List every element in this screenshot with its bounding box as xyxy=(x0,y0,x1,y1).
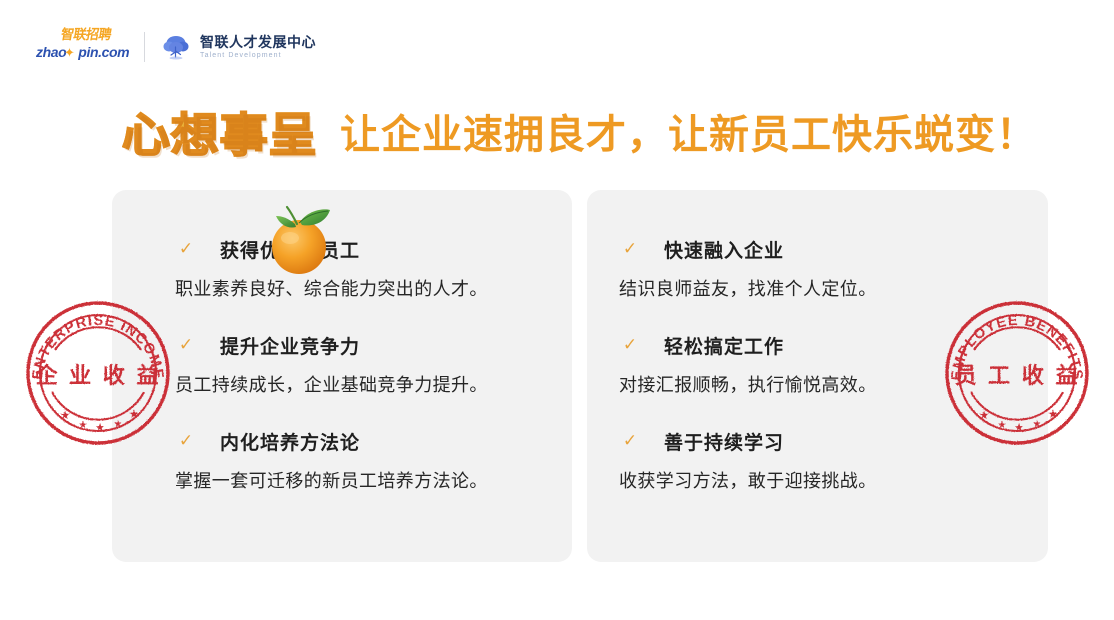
list-item-heading: ✓ 获得优质新员工 xyxy=(112,234,572,264)
card-enterprise-income: ✓ 获得优质新员工 职业素养良好、综合能力突出的人才。 ✓ 提升企业竞争力 员工… xyxy=(112,190,572,562)
zhaopin-logo-en-text: zhaopin.com xyxy=(36,44,129,60)
list-item-description: 员工持续成长，企业基础竞争力提升。 xyxy=(112,370,572,400)
list-item-description: 收获学习方法，敢于迎接挑战。 xyxy=(587,466,1048,496)
svg-text:★: ★ xyxy=(979,408,990,422)
page-title-row: 心想事呈 让企业速拥良才，让新员工快乐蜕变！ xyxy=(0,104,1114,170)
stamp-employee-benefits: EMPLOYEE BENEFITS 员 工 收 益 ★ ★ ★ ★ ★ xyxy=(941,297,1093,449)
talent-center-cn-text: 智联人才发展中心 xyxy=(200,34,316,50)
talent-center-en-text: Talent Development xyxy=(200,51,316,61)
svg-text:★: ★ xyxy=(95,422,105,434)
stamp-enterprise-income: ENTERPRISE INCOME 企 业 收 益 ★ ★ ★ ★ ★ xyxy=(22,297,174,449)
list-item: ✓ 内化培养方法论 掌握一套可迁移的新员工培养方法论。 xyxy=(112,426,572,496)
svg-text:★: ★ xyxy=(60,408,71,422)
svg-text:★: ★ xyxy=(1048,407,1059,421)
list-item-heading: ✓ 提升企业竞争力 xyxy=(112,330,572,360)
svg-text:★: ★ xyxy=(1014,422,1024,434)
list-item-description: 掌握一套可迁移的新员工培养方法论。 xyxy=(112,466,572,496)
svg-text:★: ★ xyxy=(114,419,123,430)
header-logo-bar: 智联招聘 zhaopin.com ✦ 智联人才发展中心 Talent Devel… xyxy=(36,27,316,67)
list-item-heading: ✓ 快速融入企业 xyxy=(587,234,1048,264)
check-icon: ✓ xyxy=(175,430,197,452)
list-item-title: 善于持续学习 xyxy=(664,428,784,455)
talent-center-logo[interactable]: 智联人才发展中心 Talent Development xyxy=(161,32,316,62)
svg-text:★: ★ xyxy=(1033,419,1042,430)
check-icon: ✓ xyxy=(175,238,197,260)
svg-text:★: ★ xyxy=(998,420,1007,431)
check-icon: ✓ xyxy=(175,334,197,356)
check-icon: ✓ xyxy=(619,334,641,356)
svg-text:★: ★ xyxy=(129,407,140,421)
blue-tree-cloud-icon xyxy=(161,32,191,62)
list-item-title: 提升企业竞争力 xyxy=(220,332,360,359)
stamp-right-center-text: 员 工 收 益 xyxy=(955,363,1080,389)
logo-divider xyxy=(144,32,145,62)
list-item-description: 职业素养良好、综合能力突出的人才。 xyxy=(112,274,572,304)
list-item: ✓ 提升企业竞争力 员工持续成长，企业基础竞争力提升。 xyxy=(112,330,572,400)
zhaopin-star-icon: ✦ xyxy=(64,47,75,58)
list-item-title: 快速融入企业 xyxy=(664,236,784,263)
page-title-main: 让企业速拥良才，让新员工快乐蜕变！ xyxy=(340,104,1037,166)
talent-center-text-block: 智联人才发展中心 Talent Development xyxy=(200,34,316,61)
page-title-decorative: 心想事呈 xyxy=(122,104,318,166)
list-item: ✓ 快速融入企业 结识良师益友，找准个人定位。 xyxy=(587,234,1048,304)
svg-text:★: ★ xyxy=(79,420,88,431)
list-item: ✓ 获得优质新员工 职业素养良好、综合能力突出的人才。 xyxy=(112,234,572,304)
zhaopin-logo[interactable]: 智联招聘 zhaopin.com ✦ xyxy=(36,28,122,66)
list-item-heading: ✓ 内化培养方法论 xyxy=(112,426,572,456)
orange-fruit-icon xyxy=(262,202,336,278)
stamp-left-center-text: 企 业 收 益 xyxy=(35,363,161,389)
check-icon: ✓ xyxy=(619,238,641,260)
list-item-title: 内化培养方法论 xyxy=(220,428,360,455)
stamp-employee-benefits-graphic: EMPLOYEE BENEFITS 员 工 收 益 ★ ★ ★ ★ ★ xyxy=(941,297,1093,449)
zhaopin-logo-cn-text: 智联招聘 xyxy=(60,28,113,43)
list-item-title: 轻松搞定工作 xyxy=(664,332,784,359)
stamp-enterprise-income-graphic: ENTERPRISE INCOME 企 业 收 益 ★ ★ ★ ★ ★ xyxy=(22,297,174,449)
check-icon: ✓ xyxy=(619,430,641,452)
card-enterprise-income-content: ✓ 获得优质新员工 职业素养良好、综合能力突出的人才。 ✓ 提升企业竞争力 员工… xyxy=(112,190,572,496)
